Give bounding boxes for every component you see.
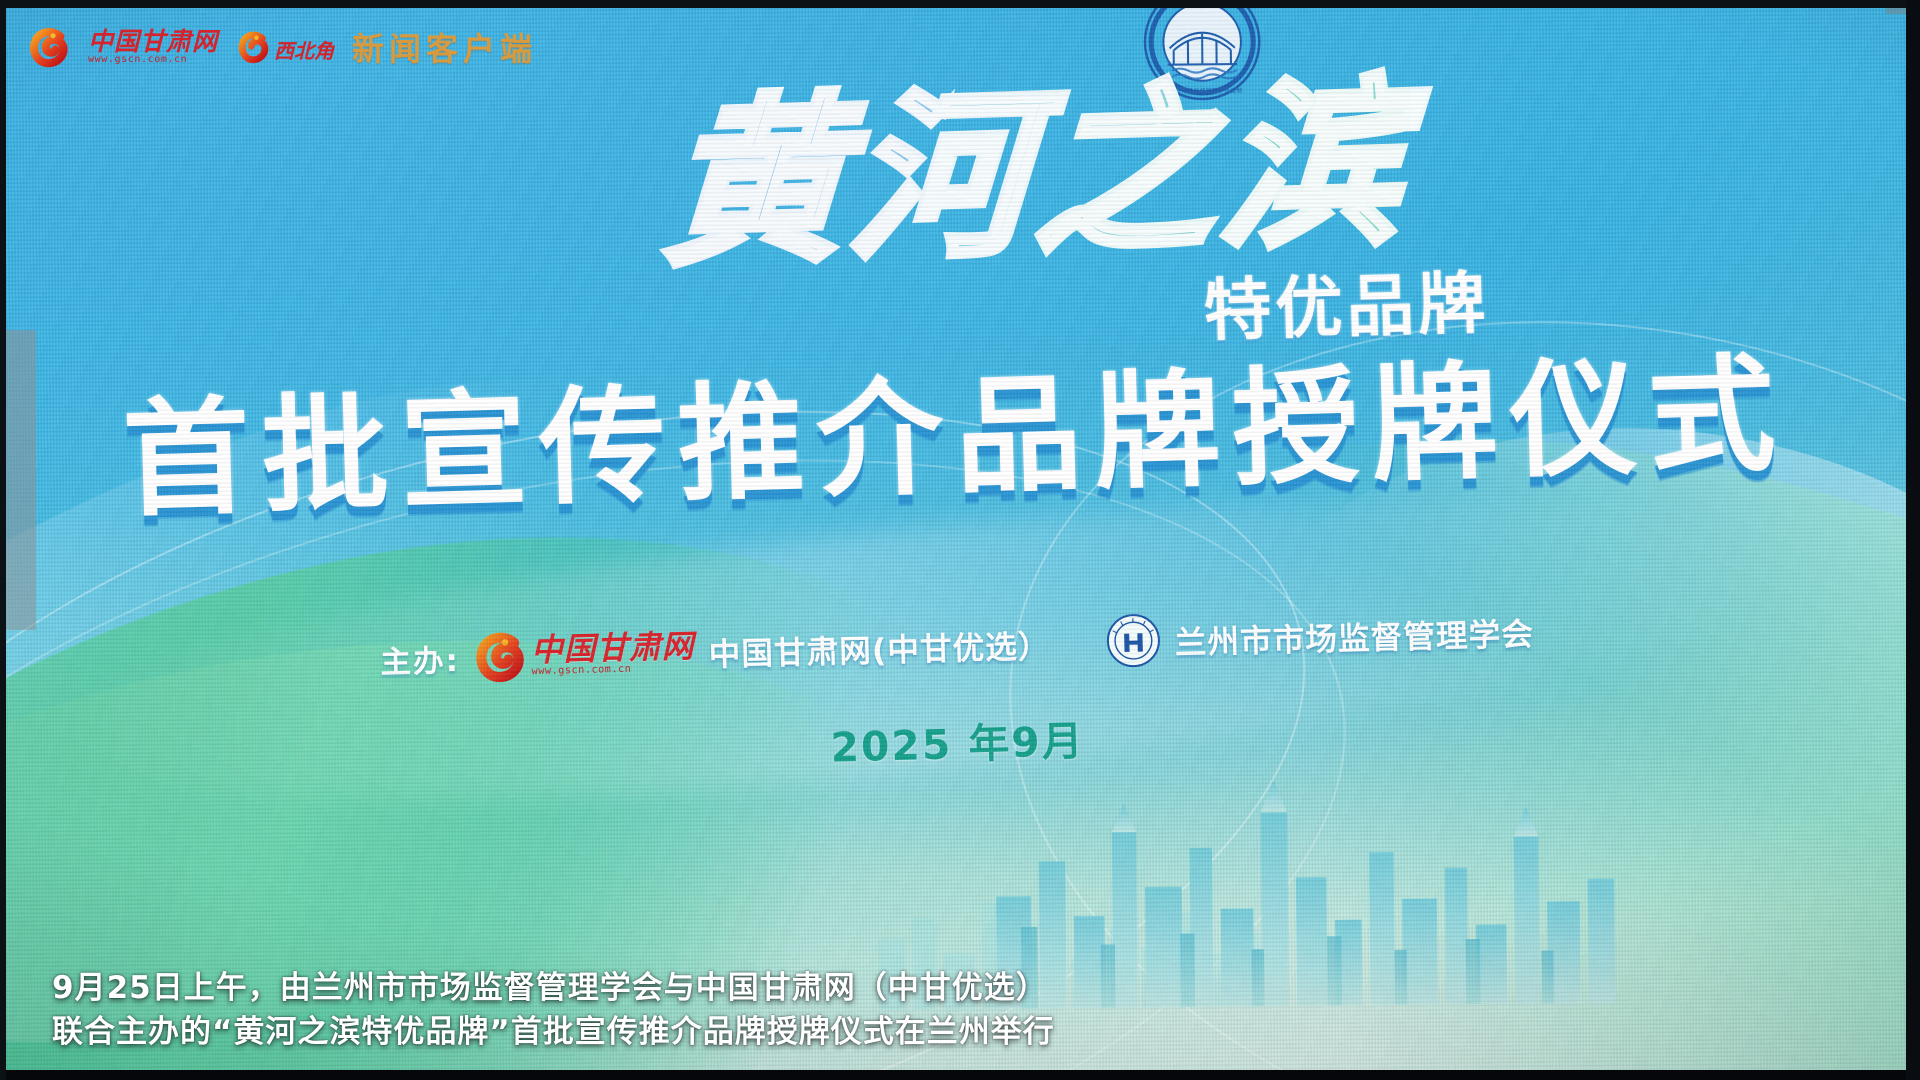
event-headline: 首批宣传推介品牌授牌仪式 bbox=[6, 325, 1906, 527]
event-date-text: 2025 年9月 bbox=[830, 708, 1086, 774]
city-skyline-icon bbox=[989, 768, 1624, 1009]
organizer-first-name: 中国甘肃网(中甘优选） bbox=[708, 620, 1051, 675]
frame-left-edge bbox=[0, 0, 6, 1080]
caption-line-1: 9月25日上午，由兰州市市场监督管理学会与中国甘肃网（中甘优选） bbox=[52, 966, 1055, 1010]
northwest-corner-logo: 西北角 bbox=[236, 30, 334, 64]
led-content: 黄河之滨特优品牌 兰州市市场监督管理学会监制 黄河之滨 特优品牌 首批宣传推介品… bbox=[6, 8, 1906, 1070]
gansu-net-name: 中国甘肃网 bbox=[531, 631, 695, 667]
calligraphy-title: 黄河之滨 bbox=[660, 73, 1412, 276]
news-client-label: 新闻客户端 bbox=[352, 24, 537, 70]
event-headline-text: 首批宣传推介品牌授牌仪式 bbox=[120, 311, 1789, 541]
organizer-spacer bbox=[1065, 642, 1092, 643]
news-caption: 9月25日上午，由兰州市市场监督管理学会与中国甘肃网（中甘优选） 联合主办的“黄… bbox=[52, 966, 1055, 1054]
gansu-net-watermark-mark-icon bbox=[28, 26, 70, 68]
calligraphy-row: 黄河之滨 特优品牌 bbox=[6, 66, 1906, 319]
gansu-net-url: www.gscn.com.cn bbox=[531, 662, 694, 676]
organizer-label: 主办: bbox=[380, 635, 461, 682]
organizer-second-name: 兰州市市场监督管理学会 bbox=[1174, 608, 1534, 663]
northwest-corner-mark-icon bbox=[236, 30, 270, 64]
frame-top-edge bbox=[0, 0, 1920, 8]
led-display-panel: 黄河之滨特优品牌 兰州市市场监督管理学会监制 黄河之滨 特优品牌 首批宣传推介品… bbox=[6, 8, 1906, 1070]
gansu-net-logo: 中国甘肃网 www.gscn.com.cn bbox=[473, 625, 695, 684]
broadcaster-watermark: 中国甘肃网 www.gscn.com.cn 西北角 新闻客户端 bbox=[28, 24, 537, 70]
association-seal-icon bbox=[1105, 612, 1161, 668]
gansu-net-mark-icon bbox=[473, 629, 527, 683]
gansu-net-watermark-url: www.gscn.com.cn bbox=[88, 55, 218, 66]
frame-right-edge bbox=[1906, 0, 1920, 1080]
gansu-net-watermark-name: 中国甘肃网 bbox=[88, 29, 218, 55]
screenshot-root: 黄河之滨特优品牌 兰州市市场监督管理学会监制 黄河之滨 特优品牌 首批宣传推介品… bbox=[0, 0, 1920, 1080]
gansu-net-watermark-wordmark: 中国甘肃网 www.gscn.com.cn bbox=[88, 29, 218, 66]
caption-line-2: 联合主办的“黄河之滨特优品牌”首批宣传推介品牌授牌仪式在兰州举行 bbox=[52, 1010, 1055, 1054]
frame-bottom-edge bbox=[0, 1070, 1920, 1080]
northwest-corner-name: 西北角 bbox=[274, 35, 334, 64]
gansu-net-wordmark: 中国甘肃网 www.gscn.com.cn bbox=[531, 631, 695, 677]
